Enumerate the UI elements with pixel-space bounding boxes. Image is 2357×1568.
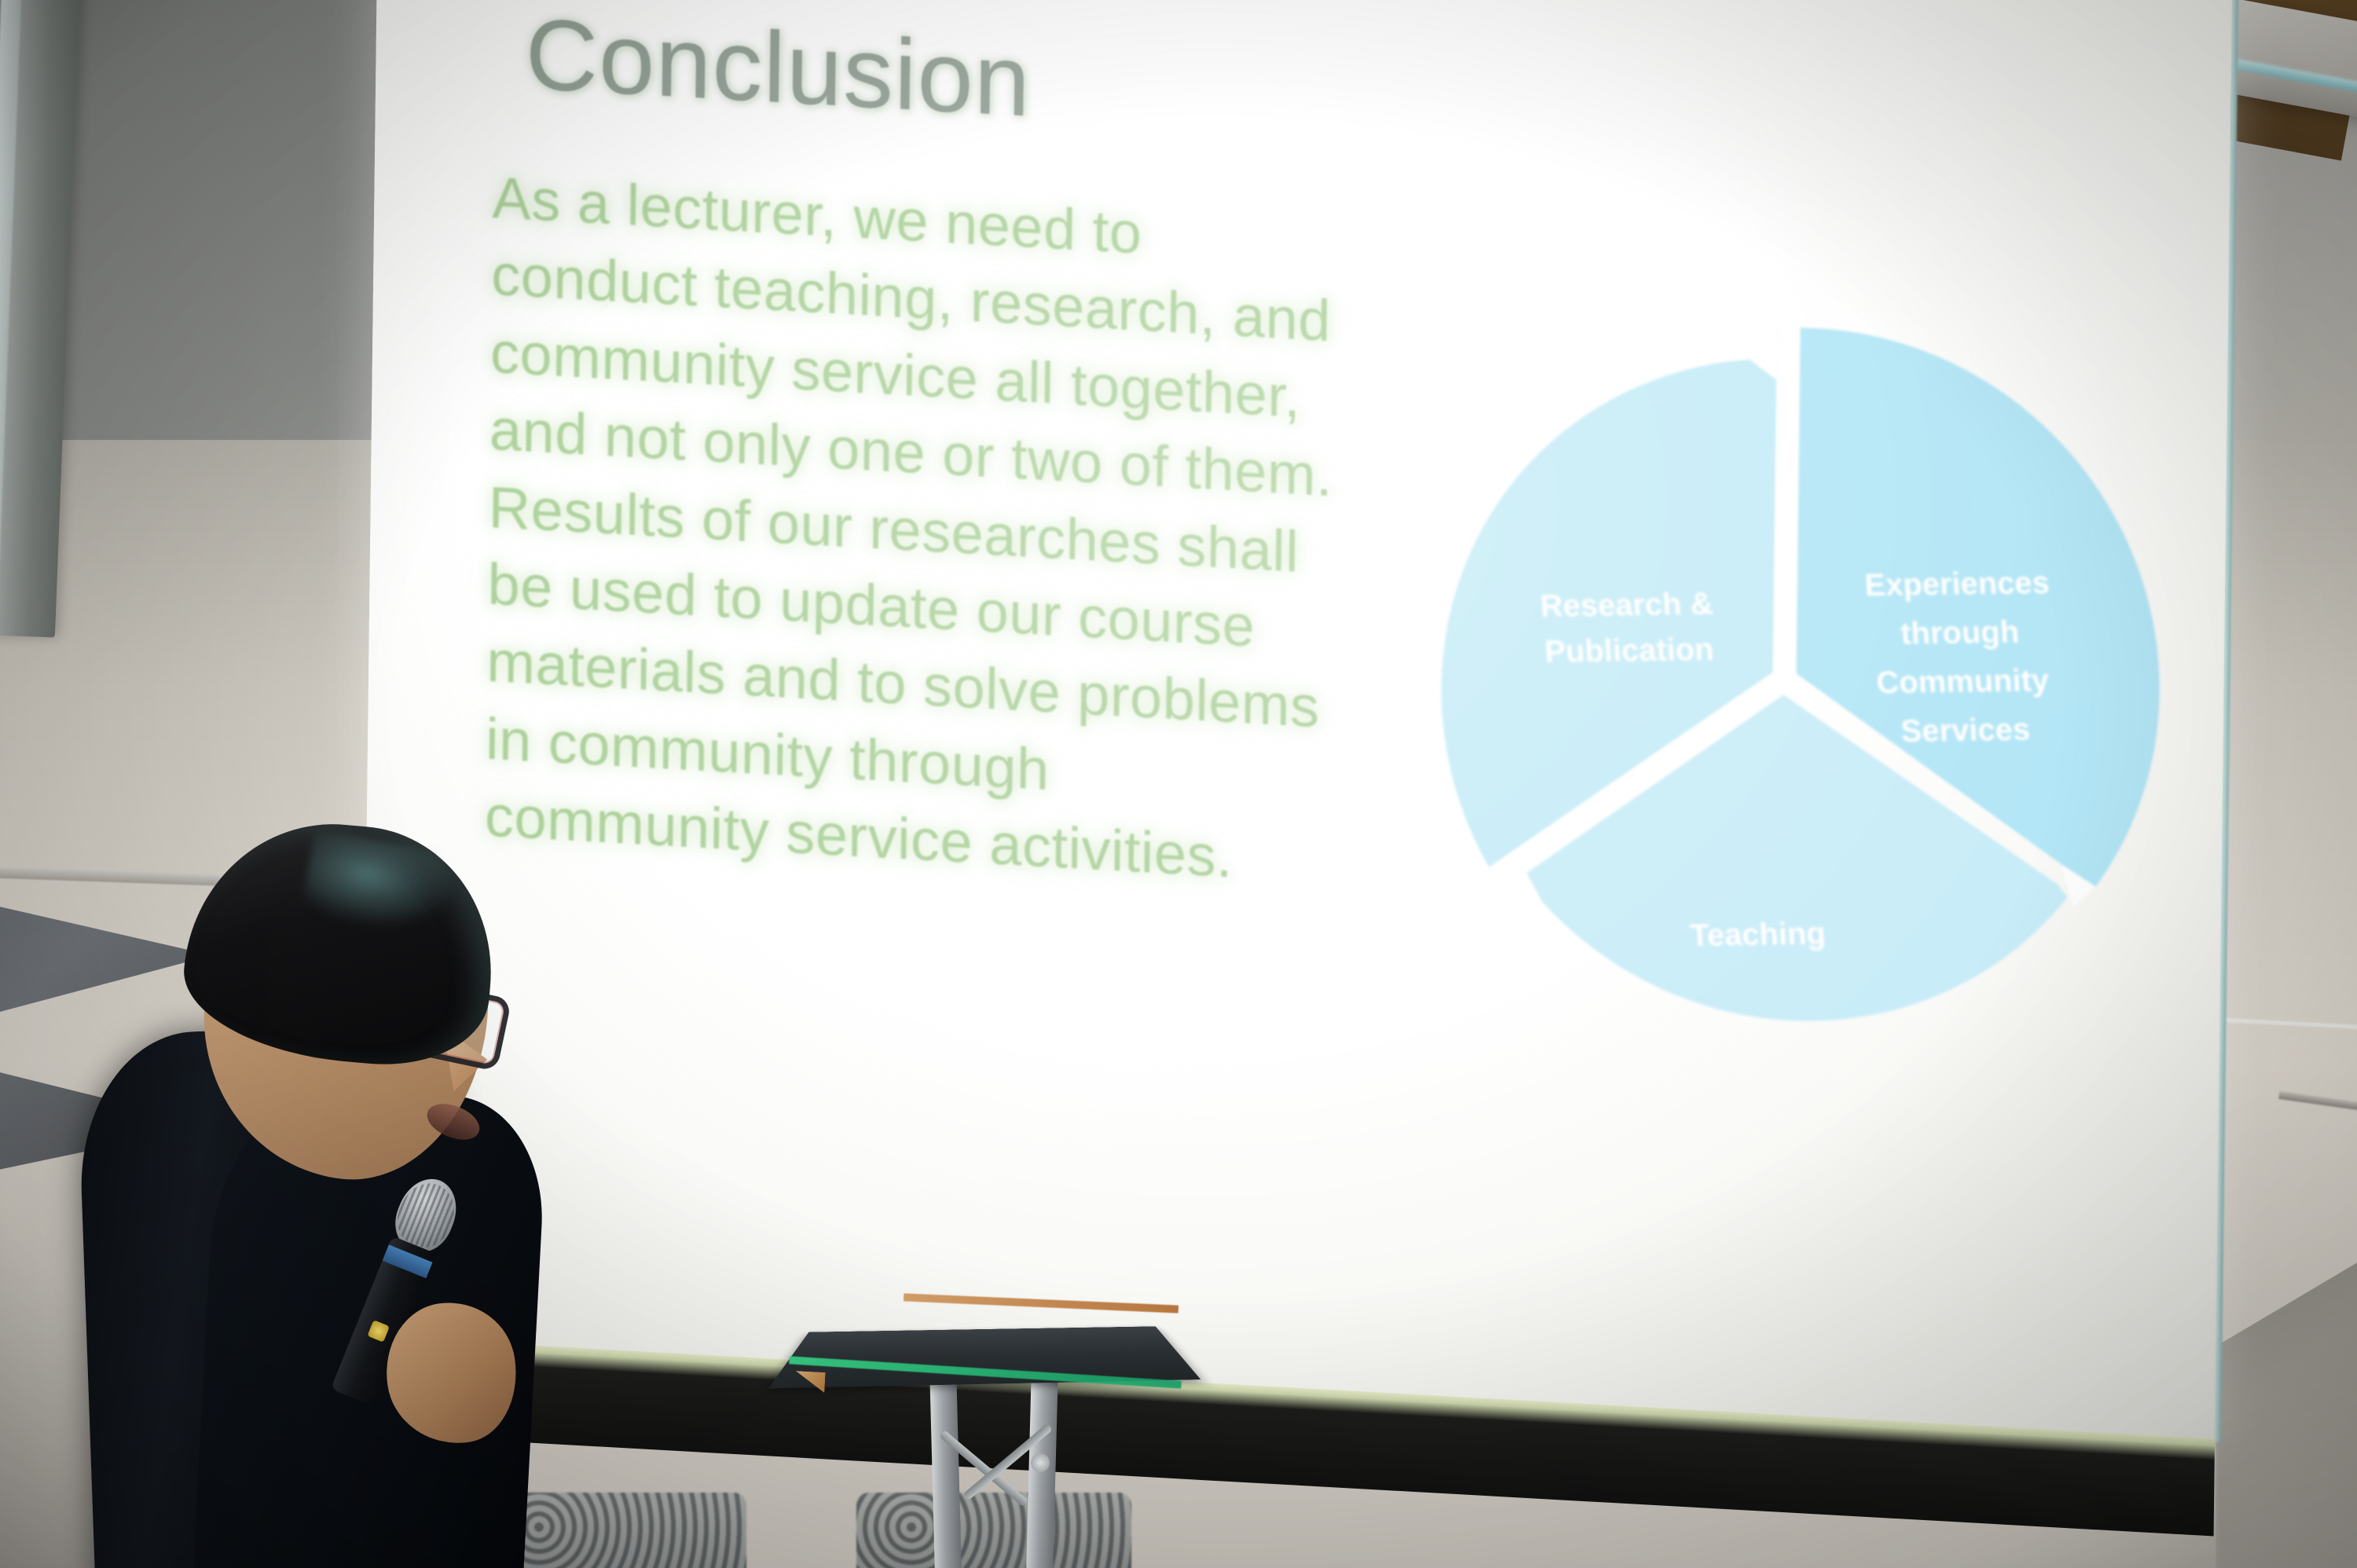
- slide-title: Conclusion: [525, 0, 1032, 140]
- segment-label-community-line4: Services: [1900, 713, 2031, 749]
- segment-label-research-line2: Publication: [1544, 632, 1715, 669]
- segment-label-research-line1: Research &: [1539, 587, 1714, 624]
- presenter: [86, 833, 574, 1568]
- segment-label-teaching: Teaching: [1689, 917, 1827, 954]
- stand-hub: [1031, 1453, 1050, 1472]
- segment-label-community-line3: Community: [1875, 663, 2051, 700]
- segment-label-community-line2: through: [1900, 615, 2020, 651]
- lectern-music-stand: [770, 1296, 1210, 1568]
- segment-label-community-line1: Experiences: [1864, 566, 2051, 603]
- slide-body-text: As a lecturer, we need to conduct teachi…: [484, 159, 1349, 903]
- projection-screen: Conclusion As a lecturer, we need to con…: [361, 0, 2232, 1442]
- stand-tray-lip: [904, 1293, 1178, 1313]
- cycle-diagram: Research & Publication Experiences throu…: [1386, 265, 2181, 1094]
- presentation-photo-scene: Conclusion As a lecturer, we need to con…: [0, 0, 2357, 1568]
- slide: Conclusion As a lecturer, we need to con…: [361, 0, 2232, 1442]
